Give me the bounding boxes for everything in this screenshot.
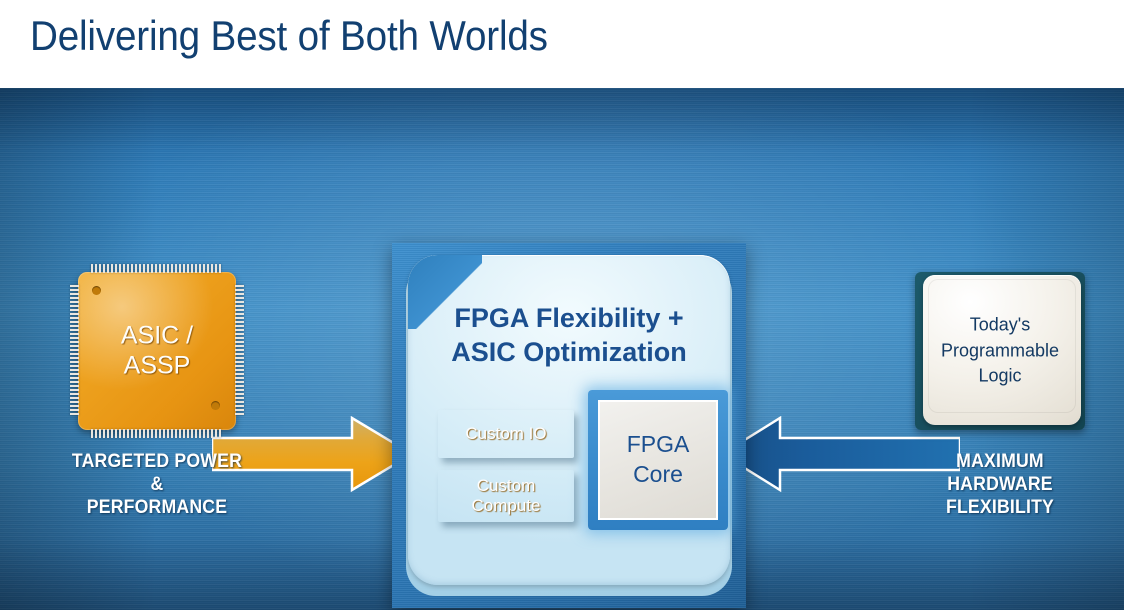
title-band: Delivering Best of Both Worlds (0, 0, 1124, 88)
right-caption-line-1: MAXIMUM HARDWARE (907, 450, 1093, 496)
slide-root: Delivering Best of Both Worlds ASIC / AS… (0, 0, 1124, 610)
block-custom-io[interactable]: Custom IO (438, 410, 574, 458)
asic-label-line-1: ASIC / (78, 322, 236, 352)
block-custom-io-label: Custom IO (465, 424, 546, 444)
diagram-stage: ASIC / ASSP TARGETED POWER & PERFORMANCE (0, 88, 1124, 610)
asic-label-line-2: ASSP (78, 351, 236, 381)
asic-chip-label: ASIC / ASSP (78, 322, 236, 381)
page-title: Delivering Best of Both Worlds (30, 12, 548, 60)
center-heading-line-2: ASIC Optimization (426, 335, 712, 369)
pl-label-line-1: Today's (915, 313, 1085, 339)
programmable-logic-label: Today's Programmable Logic (915, 313, 1085, 390)
pl-label-line-3: Logic (915, 364, 1085, 390)
fpga-chip-icon: FPGA Flexibility + ASIC Optimization Cus… (392, 243, 746, 608)
chip-pins-bottom-icon (91, 429, 223, 438)
center-heading: FPGA Flexibility + ASIC Optimization (426, 301, 712, 369)
chip-pins-top-icon (91, 264, 223, 273)
right-caption-line-2: FLEXIBILITY (907, 496, 1093, 519)
chip-marker-dot-icon (92, 286, 101, 295)
left-caption-line-1: TARGETED POWER & (69, 450, 246, 496)
block-custom-compute-label: Custom Compute (472, 476, 541, 516)
programmable-logic-chip-icon: Today's Programmable Logic (915, 272, 1085, 430)
fpga-core-frame: FPGA Core (588, 390, 728, 530)
left-block: ASIC / ASSP TARGETED POWER & PERFORMANCE (62, 272, 252, 520)
chip-die: FPGA Flexibility + ASIC Optimization Cus… (408, 255, 730, 585)
right-caption: MAXIMUM HARDWARE FLEXIBILITY (907, 450, 1093, 520)
chip-pins-right-icon (235, 285, 244, 417)
fpga-core-label: FPGA Core (627, 430, 690, 490)
block-fpga-core[interactable]: FPGA Core (598, 400, 718, 520)
asic-chip-icon: ASIC / ASSP (78, 272, 236, 430)
right-block: Today's Programmable Logic MAXIMUM HARDW… (900, 272, 1100, 520)
left-caption-line-2: PERFORMANCE (69, 496, 246, 519)
block-custom-compute[interactable]: Custom Compute (438, 470, 574, 522)
center-heading-line-1: FPGA Flexibility + (426, 301, 712, 335)
left-caption: TARGETED POWER & PERFORMANCE (69, 450, 246, 520)
chip-marker-dot-icon (211, 401, 220, 410)
pl-label-line-2: Programmable (915, 338, 1085, 364)
